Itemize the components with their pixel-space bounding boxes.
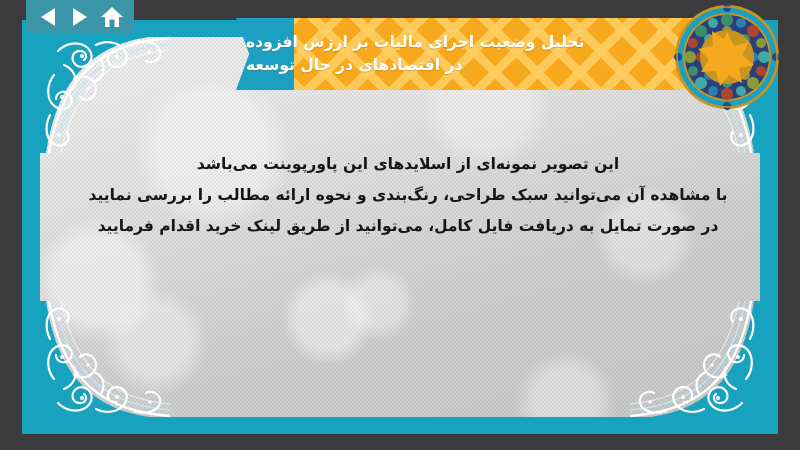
slide-title-banner: تحلیل وضعیت اجرای مالیات بر ارزش افزوده …	[236, 18, 696, 90]
home-icon	[100, 6, 124, 28]
home-button[interactable]	[99, 5, 125, 29]
body-line-2: با مشاهده آن می‌توانید سبک طراحی، رنگ‌بن…	[82, 183, 734, 208]
title-line-1: تحلیل وضعیت اجرای مالیات بر ارزش افزوده	[246, 32, 584, 53]
persian-medallion-ornament	[673, 3, 781, 111]
body-line-1: این تصویر نمونه‌ای از اسلایدهای این پاور…	[82, 152, 734, 177]
slide-body-text: این تصویر نمونه‌ای از اسلایدهای این پاور…	[82, 152, 734, 239]
title-line-2: در اقتصادهای در حال توسعه	[246, 55, 462, 76]
triangle-right-icon	[73, 8, 87, 26]
slide-viewer: این تصویر نمونه‌ای از اسلایدهای این پاور…	[0, 0, 800, 450]
body-line-3: در صورت تمایل به دریافت فایل کامل، می‌تو…	[82, 214, 734, 239]
navigation-bar	[26, 0, 134, 34]
back-button[interactable]	[35, 5, 61, 29]
slide-title: تحلیل وضعیت اجرای مالیات بر ارزش افزوده …	[236, 18, 696, 90]
forward-button[interactable]	[67, 5, 93, 29]
triangle-left-icon	[41, 8, 55, 26]
